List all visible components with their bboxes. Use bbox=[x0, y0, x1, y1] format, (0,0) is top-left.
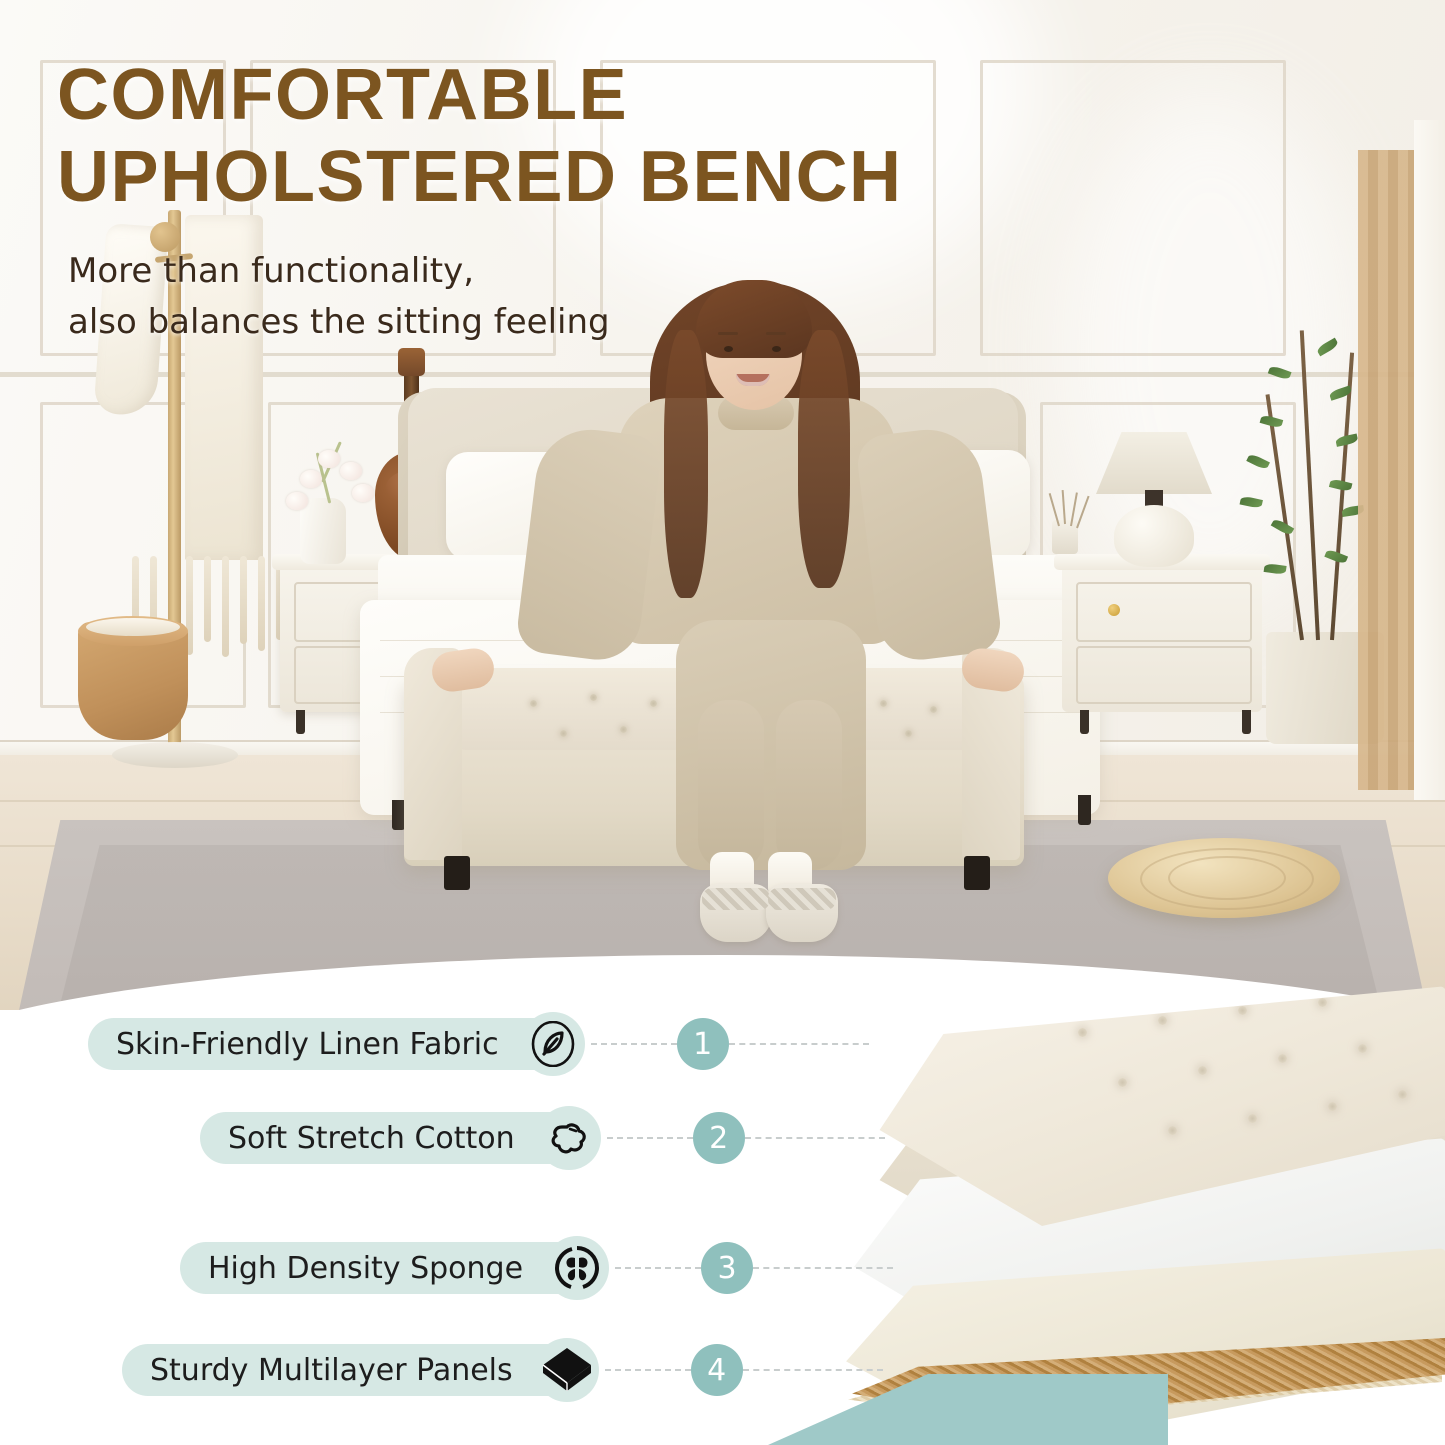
shin-right bbox=[776, 700, 842, 870]
nightstand-leg bbox=[1242, 710, 1251, 734]
feature-number-badge-3: 3 bbox=[701, 1242, 753, 1294]
lamp-base bbox=[1114, 505, 1194, 567]
drawer bbox=[1076, 646, 1252, 704]
feature-number-4: 4 bbox=[707, 1353, 726, 1388]
curtain bbox=[1358, 150, 1420, 790]
feature-label-1: Skin-Friendly Linen Fabric bbox=[116, 1027, 499, 1062]
connector-line-1 bbox=[591, 1043, 677, 1045]
feature-label-3: High Density Sponge bbox=[208, 1251, 523, 1286]
subtitle-line-2: also balances the sitting feeling bbox=[68, 297, 828, 348]
cotton-cloud-icon bbox=[537, 1106, 601, 1170]
hair-strand bbox=[664, 330, 708, 598]
infographic-canvas: COMFORTABLE UPHOLSTERED BENCH More than … bbox=[0, 0, 1445, 1445]
board-slab-icon bbox=[535, 1338, 599, 1402]
bench-foot bbox=[964, 856, 990, 890]
page-subtitle: More than functionality, also balances t… bbox=[68, 246, 828, 348]
bench-foot bbox=[444, 856, 470, 890]
feature-label-4: Sturdy Multilayer Panels bbox=[150, 1353, 513, 1388]
hair-strand bbox=[798, 330, 850, 588]
reed-diffuser bbox=[1052, 520, 1078, 554]
feature-number-badge-2: 2 bbox=[693, 1112, 745, 1164]
feature-label-pill-4: Sturdy Multilayer Panels bbox=[122, 1344, 575, 1396]
connector-line-2 bbox=[607, 1137, 693, 1139]
feature-number-2: 2 bbox=[709, 1121, 728, 1156]
feature-label-2: Soft Stretch Cotton bbox=[228, 1121, 515, 1156]
slipper-strap bbox=[702, 888, 770, 910]
orchid-bloom bbox=[318, 450, 340, 468]
sponge-pores-icon bbox=[545, 1236, 609, 1300]
coat-rack-base bbox=[112, 742, 238, 768]
feature-number-3: 3 bbox=[717, 1251, 736, 1286]
feature-label-pill-1: Skin-Friendly Linen Fabric bbox=[88, 1018, 561, 1070]
drawer-knob bbox=[1108, 604, 1120, 616]
feature-row-3: High Density Sponge 3 bbox=[180, 1240, 893, 1296]
drawer bbox=[1076, 582, 1252, 642]
feature-row-4: Sturdy Multilayer Panels 4 bbox=[122, 1342, 883, 1398]
white-vase bbox=[300, 498, 346, 564]
sheer-curtain bbox=[1414, 120, 1445, 800]
connector-line-1b bbox=[729, 1043, 869, 1045]
nightstand-leg bbox=[1080, 710, 1089, 734]
slipper-strap bbox=[768, 888, 836, 910]
feature-label-pill-3: High Density Sponge bbox=[180, 1242, 585, 1294]
material-layer-stack bbox=[828, 986, 1445, 1406]
connector-line-4 bbox=[605, 1369, 691, 1371]
connector-line-3 bbox=[615, 1267, 701, 1269]
feature-row-1: Skin-Friendly Linen Fabric 1 bbox=[88, 1016, 869, 1072]
connector-line-4b bbox=[743, 1369, 883, 1371]
connector-line-2b bbox=[745, 1137, 885, 1139]
orchid-bloom bbox=[300, 470, 322, 488]
bed-leg bbox=[1078, 795, 1091, 825]
feature-label-pill-2: Soft Stretch Cotton bbox=[200, 1112, 577, 1164]
shin-left bbox=[698, 700, 764, 870]
feature-number-1: 1 bbox=[693, 1027, 712, 1062]
page-title: COMFORTABLE UPHOLSTERED BENCH bbox=[57, 54, 1077, 218]
ukulele-headstock bbox=[398, 348, 425, 376]
feature-number-badge-1: 1 bbox=[677, 1018, 729, 1070]
subtitle-line-1: More than functionality, bbox=[68, 246, 828, 297]
nightstand-leg bbox=[296, 710, 305, 734]
title-line-2: UPHOLSTERED BENCH bbox=[57, 136, 1077, 218]
leaf-icon bbox=[521, 1012, 585, 1076]
orchid-bloom bbox=[286, 492, 308, 510]
feature-row-2: Soft Stretch Cotton 2 bbox=[200, 1110, 885, 1166]
orchid-bloom bbox=[340, 462, 362, 480]
connector-line-3b bbox=[753, 1267, 893, 1269]
sweater-torso bbox=[618, 398, 896, 644]
feature-number-badge-4: 4 bbox=[691, 1344, 743, 1396]
orchid-bloom bbox=[352, 484, 374, 502]
title-line-1: COMFORTABLE bbox=[57, 54, 1077, 136]
woven-basket-liner bbox=[86, 618, 180, 636]
